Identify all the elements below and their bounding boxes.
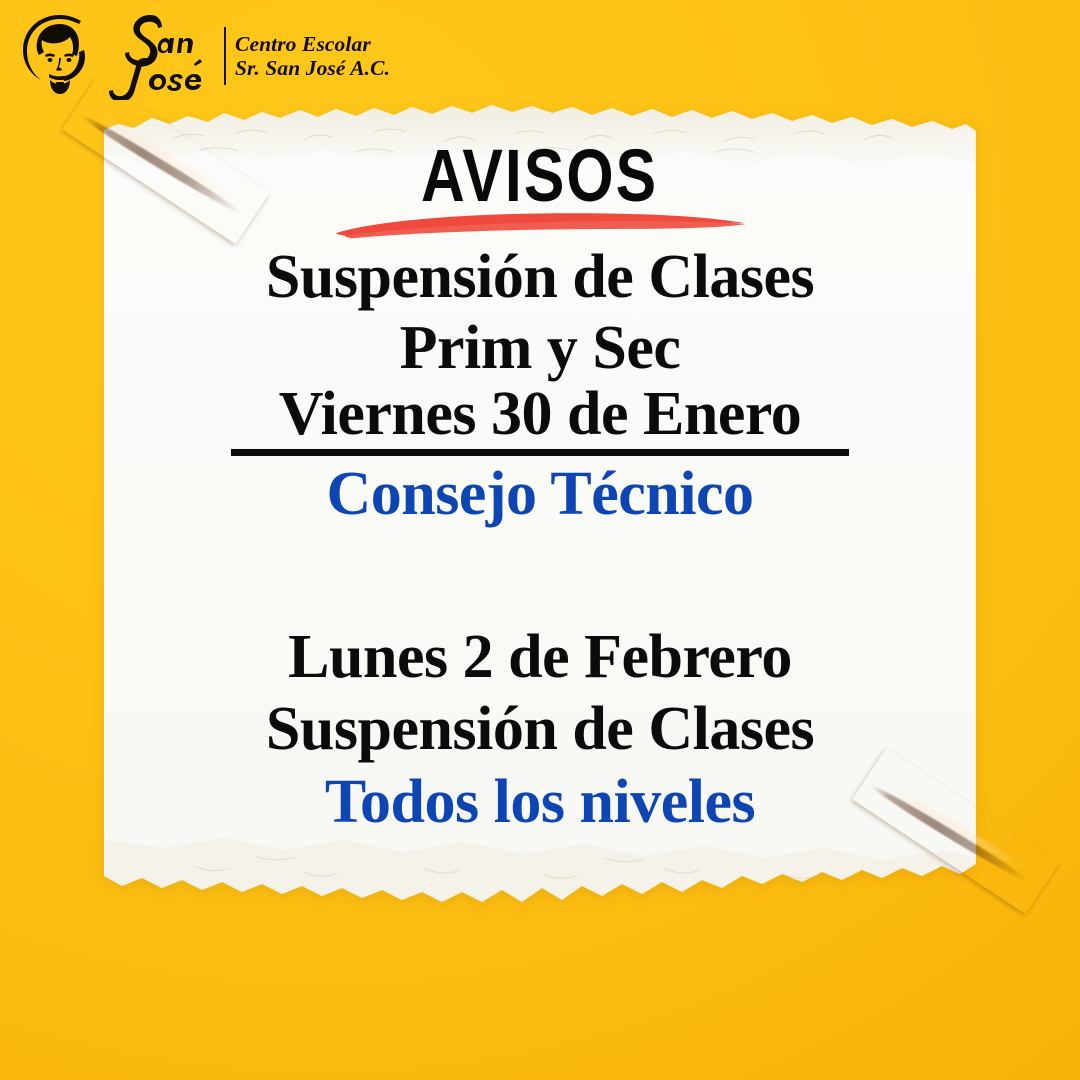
notice-heading: AVISOS [421, 140, 658, 211]
block1-date-underline [231, 449, 849, 456]
block1-line-suspension: Suspensión de Clases [266, 245, 814, 309]
block2-line-levels: Todos los niveles [325, 770, 755, 834]
school-name-line-2: Sr. San José A.C. [235, 56, 390, 80]
logo-divider-rule [224, 27, 226, 85]
school-logo: Centro Escolar Sr. San José A.C. [16, 10, 376, 102]
block1-line-levels: Prim y Sec [400, 316, 681, 380]
poster-canvas: Centro Escolar Sr. San José A.C. [0, 0, 1080, 1080]
block1-date-group: Viernes 30 de Enero [231, 382, 849, 456]
block2-line-suspension: Suspensión de Clases [266, 697, 814, 761]
san-jose-script-wordmark [102, 12, 222, 100]
block2-line-date: Lunes 2 de Febrero [288, 625, 792, 689]
block1-line-consejo: Consejo Técnico [326, 462, 753, 526]
block1-line-date: Viernes 30 de Enero [279, 382, 802, 446]
school-name-block: Centro Escolar Sr. San José A.C. [235, 32, 390, 80]
school-name-line-1: Centro Escolar [235, 32, 390, 56]
